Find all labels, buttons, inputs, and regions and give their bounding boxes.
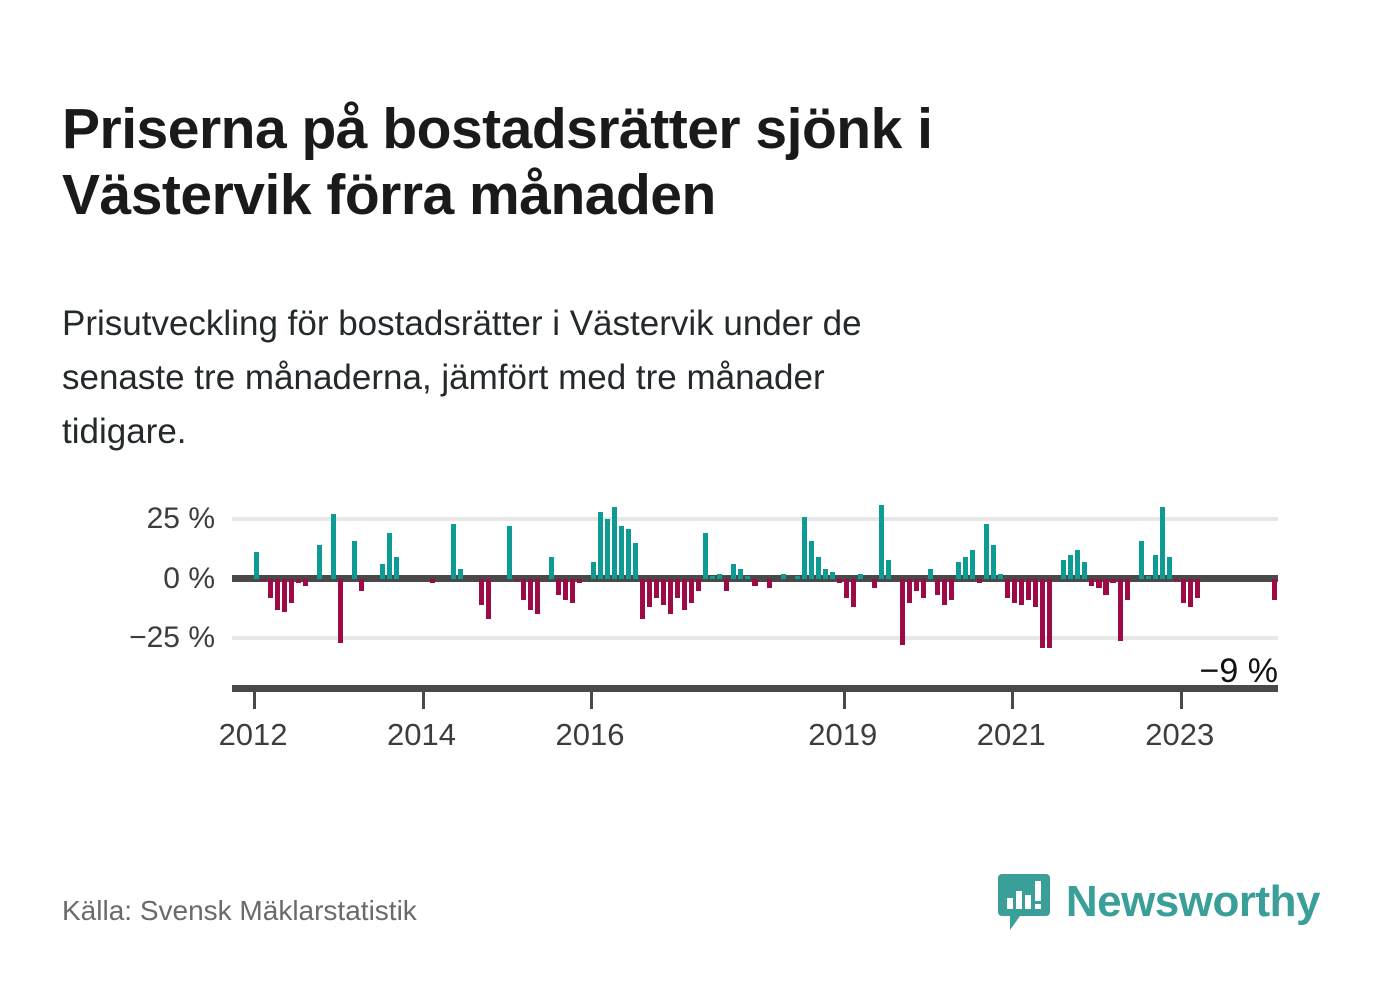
chart-bar [1188, 579, 1193, 608]
chart-bar [619, 526, 624, 578]
chart-bar [275, 579, 280, 610]
gridline [232, 517, 1278, 521]
chart-bar [535, 579, 540, 615]
chart-bar [1026, 579, 1031, 600]
x-axis-labels: 201220142016201920212023 [232, 685, 1278, 755]
last-value-annotation: −9 % [1200, 652, 1278, 691]
chart-bar [984, 524, 989, 579]
chart-bar [282, 579, 287, 612]
chart-bar [900, 579, 905, 646]
chart-bar [458, 569, 463, 579]
chart-bar [907, 579, 912, 603]
chart-bar [1075, 550, 1080, 579]
chart-bar [507, 526, 512, 578]
chart-bar [1146, 576, 1151, 578]
x-axis-tick-label: 2016 [556, 717, 625, 753]
x-axis-tick [590, 692, 593, 709]
chart-bar [1110, 579, 1115, 584]
chart-bar [1103, 579, 1108, 596]
chart-bar [451, 524, 456, 579]
chart-bar [563, 579, 568, 600]
chart-bar [1167, 557, 1172, 578]
chart-bar [1272, 579, 1277, 600]
y-axis-tick-label: 25 % [25, 502, 215, 536]
chart-bar [387, 533, 392, 578]
chart-bar [1118, 579, 1123, 641]
chart-bar [430, 579, 435, 584]
chart-bar [577, 579, 582, 584]
chart-bar [626, 529, 631, 579]
chart-bar [914, 579, 919, 591]
chart-bar [963, 557, 968, 578]
chart-bar [359, 579, 364, 591]
chart-bar [549, 557, 554, 578]
chart-bar [331, 514, 336, 578]
chart-bar [717, 574, 722, 579]
chart-bar [1181, 579, 1186, 603]
chart-bar [837, 579, 842, 584]
x-axis-tick [1180, 692, 1183, 709]
chart-bar [767, 579, 772, 589]
x-axis-tick [1011, 692, 1014, 709]
y-axis-tick-label: −25 % [25, 621, 215, 655]
chart-bar [352, 541, 357, 579]
chart-bar [703, 533, 708, 578]
chart-bar [858, 574, 863, 579]
chart-bar [745, 576, 750, 578]
chart-bar [816, 557, 821, 578]
bar-chart: 25 %0 %−25 % 201220142016201920212023 −9… [0, 470, 1382, 770]
chart-bar [956, 562, 961, 579]
chart-bar [886, 560, 891, 579]
chart-bar [1174, 579, 1179, 581]
y-axis-tick-label: 0 % [25, 562, 215, 596]
chart-bar [591, 562, 596, 579]
chart-bar [977, 579, 982, 584]
chart-bar [970, 550, 975, 579]
chart-bar [689, 579, 694, 603]
chart-bar [570, 579, 575, 603]
chart-bar [486, 579, 491, 620]
y-axis-labels: 25 %0 %−25 % [0, 470, 215, 770]
chart-bar [317, 545, 322, 578]
newsworthy-logo: Newsworthy [996, 872, 1320, 932]
logo-wordmark: Newsworthy [1066, 880, 1320, 924]
chart-bar [1082, 562, 1087, 579]
chart-bar [528, 579, 533, 610]
chart-bar [781, 574, 786, 579]
chart-bar [675, 579, 680, 598]
x-axis-tick-label: 2023 [1145, 717, 1214, 753]
chart-bar [935, 579, 940, 596]
chart-bar [928, 569, 933, 579]
plot-area [232, 500, 1278, 655]
chart-bar [296, 579, 301, 584]
page-title: Priserna på bostadsrätter sjönk i Väster… [62, 96, 1212, 228]
chart-bar [738, 569, 743, 579]
chart-bar [1125, 579, 1130, 600]
chart-bar [991, 545, 996, 578]
chart-bar [998, 574, 1003, 579]
chart-bar [949, 579, 954, 600]
chart-bar [1033, 579, 1038, 608]
source-note: Källa: Svensk Mäklarstatistik [62, 895, 417, 927]
x-axis-tick [422, 692, 425, 709]
chart-bar [303, 579, 308, 586]
chart-bar [640, 579, 645, 620]
chart-bar [851, 579, 856, 608]
chart-bar [668, 579, 673, 615]
chart-bar [795, 576, 800, 578]
x-axis-tick-label: 2014 [387, 717, 456, 753]
x-axis-tick [253, 692, 256, 709]
chart-bar [394, 557, 399, 578]
chart-bar [879, 505, 884, 579]
chart-bar [556, 579, 561, 596]
chart-bar [1047, 579, 1052, 648]
chart-bar [514, 579, 519, 581]
chart-bar [844, 579, 849, 598]
chart-bar [1040, 579, 1045, 648]
chart-bar [1005, 579, 1010, 598]
chart-bar [1153, 555, 1158, 579]
chart-bar [710, 576, 715, 578]
chart-bar [289, 579, 294, 603]
chart-bar [1089, 579, 1094, 586]
chart-bar [380, 564, 385, 578]
chart-bar [1139, 541, 1144, 579]
chart-bar [921, 579, 926, 598]
chart-bar [724, 579, 729, 591]
chart-bar [1160, 507, 1165, 579]
chart-bar [682, 579, 687, 610]
x-axis-tick-label: 2019 [808, 717, 877, 753]
chart-bar [823, 569, 828, 579]
chart-bar [809, 541, 814, 579]
chart-bar [731, 564, 736, 578]
chart-bar [654, 579, 659, 598]
chart-bar [802, 517, 807, 579]
bar-chart-speech-bubble-icon [996, 872, 1052, 932]
page-subtitle: Prisutveckling för bostadsrätter i Väste… [62, 297, 1202, 459]
chart-bar [268, 579, 273, 598]
x-axis-tick-label: 2021 [977, 717, 1046, 753]
chart-bar [830, 572, 835, 579]
chart-bar [1012, 579, 1017, 603]
chart-bar [598, 512, 603, 579]
x-axis-tick-label: 2012 [219, 717, 288, 753]
chart-bar [261, 579, 266, 581]
chart-bar [661, 579, 666, 605]
chart-bar [872, 579, 877, 589]
chart-bar [752, 579, 757, 586]
chart-bar [605, 519, 610, 579]
chart-bar [633, 543, 638, 579]
chart-bar [254, 552, 259, 578]
chart-bar [647, 579, 652, 608]
chart-bar [521, 579, 526, 600]
chart-bar [1061, 560, 1066, 579]
chart-bar [1096, 579, 1101, 589]
chart-bar [1195, 579, 1200, 598]
chart-bar [338, 579, 343, 643]
chart-bar [612, 507, 617, 579]
chart-bar [942, 579, 947, 605]
x-axis-tick [843, 692, 846, 709]
chart-bar [1068, 555, 1073, 579]
chart-bar [696, 579, 701, 591]
infographic-page: Priserna på bostadsrätter sjönk i Väster… [0, 0, 1382, 999]
chart-bar [1019, 579, 1024, 605]
chart-bar [479, 579, 484, 605]
